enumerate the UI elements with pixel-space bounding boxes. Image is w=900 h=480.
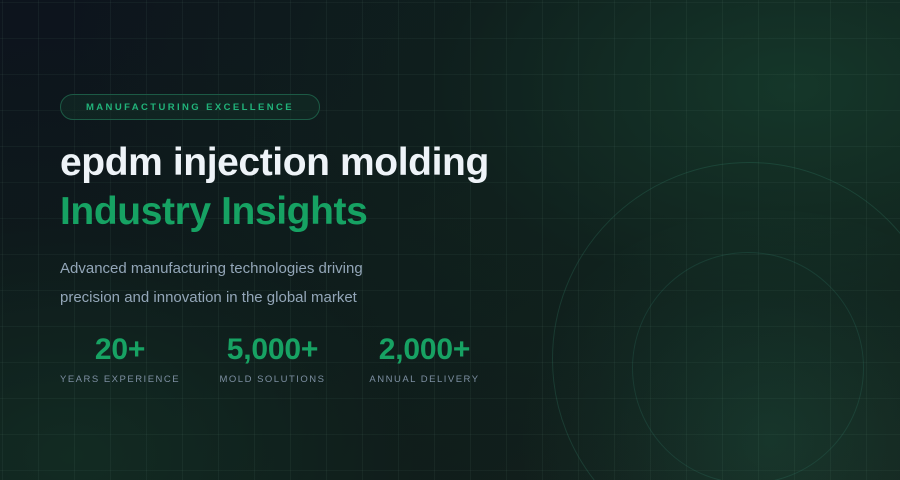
hero-description-line-1: Advanced manufacturing technologies driv…	[60, 254, 363, 283]
stat-item-mold-solutions: 5,000+ MOLD SOLUTIONS	[216, 332, 329, 385]
stat-item-years-experience: 20+ YEARS EXPERIENCE	[60, 332, 180, 385]
eyebrow-badge-label: MANUFACTURING EXCELLENCE	[86, 102, 294, 113]
grid-pattern-background	[0, 0, 900, 480]
stat-value: 5,000+	[216, 332, 329, 368]
outer-circle-icon	[552, 162, 900, 480]
stats-row: 20+ YEARS EXPERIENCE 5,000+ MOLD SOLUTIO…	[60, 332, 481, 385]
hero-banner: MANUFACTURING EXCELLENCE epdm injection …	[0, 0, 900, 480]
bottom-accent-bar	[0, 472, 900, 480]
concentric-circles-decoration	[480, 150, 900, 480]
hero-description-line-2: precision and innovation in the global m…	[60, 283, 363, 312]
stat-value: 20+	[60, 332, 180, 368]
page-title: epdm injection molding	[60, 138, 489, 187]
green-glow-decoration	[510, 210, 900, 480]
stat-label: ANNUAL DELIVERY	[368, 374, 481, 385]
stat-label: MOLD SOLUTIONS	[216, 374, 329, 385]
stat-item-annual-delivery: 2,000+ ANNUAL DELIVERY	[368, 332, 481, 385]
stat-label: YEARS EXPERIENCE	[60, 374, 180, 385]
eyebrow-badge: MANUFACTURING EXCELLENCE	[60, 94, 320, 120]
stat-value: 2,000+	[368, 332, 481, 368]
page-subtitle-accent: Industry Insights	[60, 187, 367, 236]
hero-description: Advanced manufacturing technologies driv…	[60, 254, 363, 312]
inner-circle-icon	[632, 252, 864, 480]
